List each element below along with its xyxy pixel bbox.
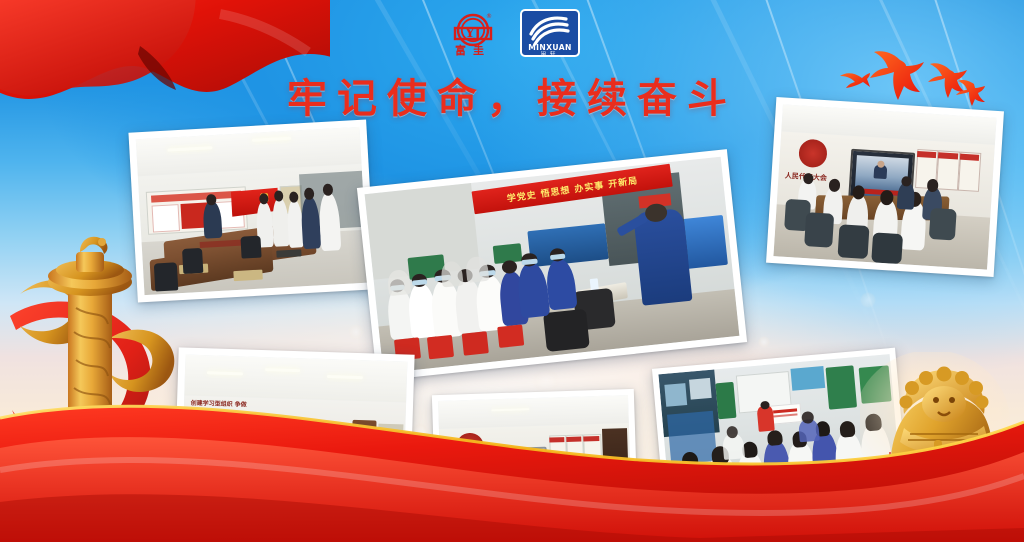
svg-text:®: ® bbox=[486, 13, 492, 20]
svg-text:MINXUAN: MINXUAN bbox=[528, 43, 572, 52]
logo-row: YJ ® 富圭 MINXUAN 闽轩 bbox=[0, 6, 1024, 60]
svg-text:富圭: 富圭 bbox=[455, 43, 491, 57]
photo-party-history-lecture[interactable]: 学党史 悟思想 办实事 开新局 bbox=[357, 149, 747, 381]
photo-video-study[interactable]: 人民代表大会 bbox=[766, 97, 1004, 277]
poster-canvas: YJ ® 富圭 MINXUAN 闽轩 牢记使命，接续奋斗 bbox=[0, 0, 1024, 542]
yj-company-logo-icon: YJ ® 富圭 bbox=[442, 8, 504, 58]
svg-text:YJ: YJ bbox=[464, 26, 480, 41]
bottom-red-ribbon bbox=[0, 352, 1024, 542]
minxuan-logo-icon: MINXUAN 闽轩 bbox=[518, 8, 582, 58]
svg-text:闽轩: 闽轩 bbox=[541, 50, 560, 58]
